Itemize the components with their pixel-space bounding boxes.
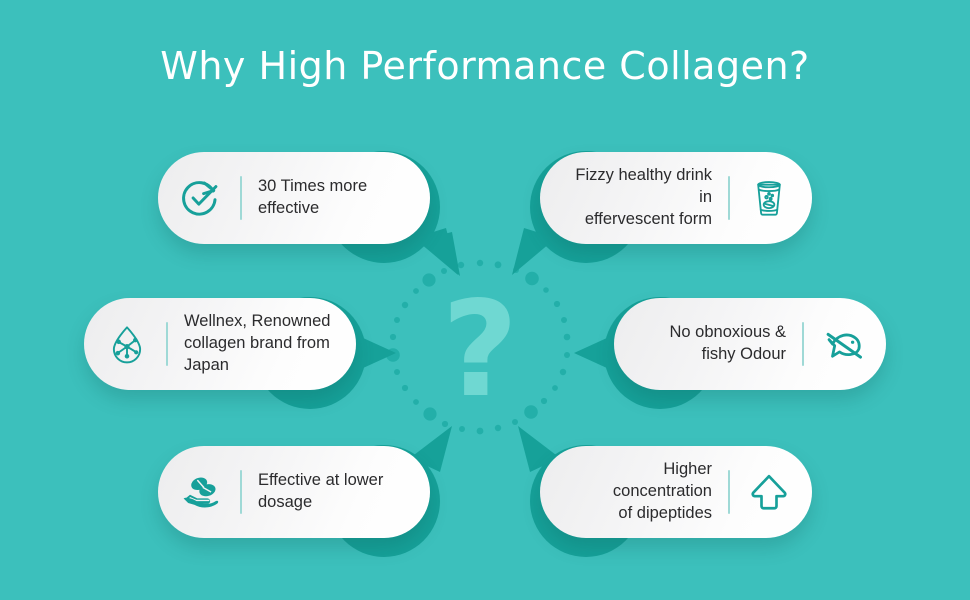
bubble-text: Wellnex, Renowned collagen brand from Ja… <box>184 311 334 376</box>
bubble-card: 30 Times more effective <box>158 152 430 244</box>
divider <box>240 470 242 514</box>
bubble-card: Higher concentration of dipeptides <box>540 446 812 538</box>
check-circle-refresh-icon <box>178 175 224 221</box>
no-fish-icon <box>820 321 866 367</box>
hand-pills-icon <box>178 469 224 515</box>
divider <box>166 322 168 366</box>
feature-bubble-higher-concentration[interactable]: Higher concentration of dipeptides <box>528 446 818 556</box>
bubble-card: Wellnex, Renowned collagen brand from Ja… <box>84 298 356 390</box>
bubble-text: Fizzy healthy drink in effervescent form <box>562 165 712 230</box>
bubble-text: 30 Times more effective <box>258 176 408 220</box>
bubble-text: Effective at lower dosage <box>258 470 408 514</box>
feature-bubble-30-times-more-effective[interactable]: 30 Times more effective <box>152 152 442 262</box>
bubble-text: No obnoxious & fishy Odour <box>636 322 786 366</box>
page-title: Why High Performance Collagen? <box>0 44 970 88</box>
divider <box>728 176 730 220</box>
bubble-card: No obnoxious & fishy Odour <box>614 298 886 390</box>
bubble-card: Fizzy healthy drink in effervescent form <box>540 152 812 244</box>
infographic-poster: Why High Performance Collagen? <box>0 0 970 600</box>
divider <box>802 322 804 366</box>
feature-bubble-fizzy-healthy-drink[interactable]: Fizzy healthy drink in effervescent form <box>528 152 818 262</box>
droplet-molecule-icon <box>104 321 150 367</box>
bubble-card: Effective at lower dosage <box>158 446 430 538</box>
effervescent-glass-icon <box>746 175 792 221</box>
feature-bubble-effective-lower-dosage[interactable]: Effective at lower dosage <box>152 446 442 556</box>
divider <box>728 470 730 514</box>
bubble-text: Higher concentration of dipeptides <box>562 459 712 524</box>
up-arrow-icon <box>746 469 792 515</box>
divider <box>240 176 242 220</box>
feature-bubble-wellnex-japan[interactable]: Wellnex, Renowned collagen brand from Ja… <box>78 298 368 408</box>
feature-bubble-no-fishy-odour[interactable]: No obnoxious & fishy Odour <box>602 298 892 408</box>
